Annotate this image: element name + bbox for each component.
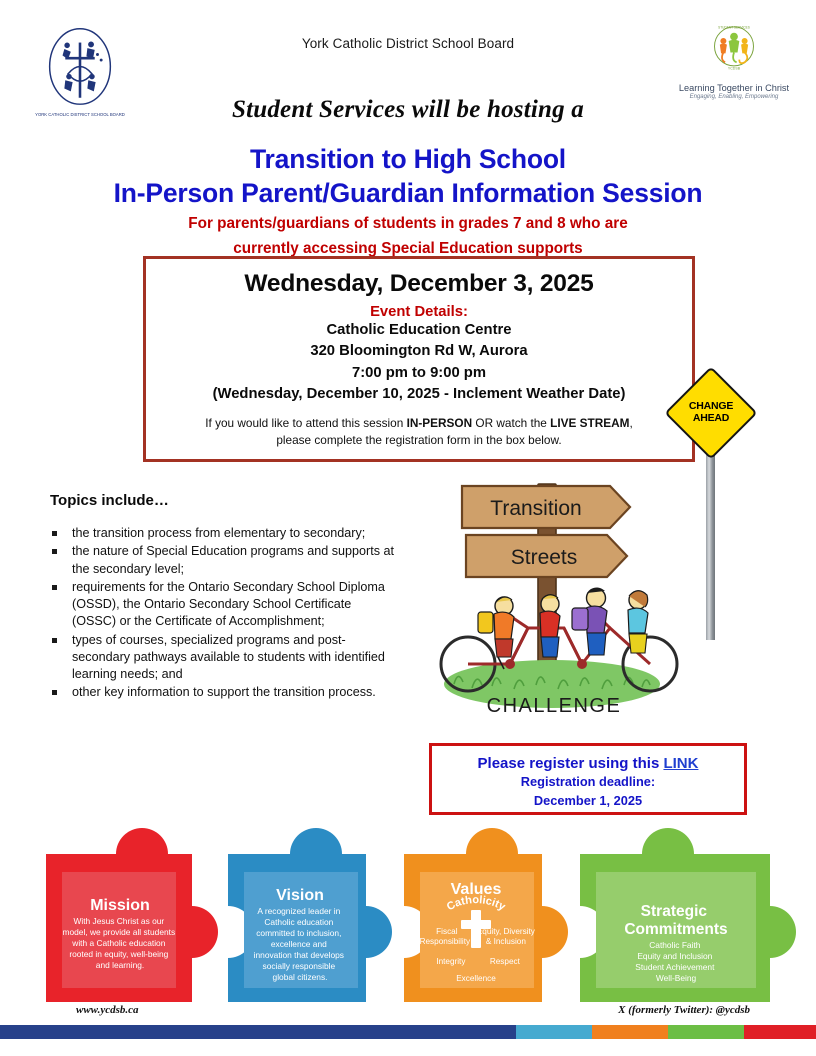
clipart-sign-top-text: Transition (490, 497, 581, 520)
list-item: requirements for the Ontario Secondary S… (50, 579, 395, 631)
student-services-logo: STUDENT SERVICES YCDSB Learning Together… (674, 22, 794, 100)
sign-post (706, 435, 715, 640)
event-date: Wednesday, December 3, 2025 (146, 270, 692, 298)
note-line-2: please complete the registration form in… (160, 432, 678, 449)
svg-text:YORK CATHOLIC DISTRICT SCHOOL: YORK CATHOLIC DISTRICT SCHOOL BOARD (35, 112, 125, 117)
title-line-2: In-Person Parent/Guardian Information Se… (0, 176, 816, 210)
list-item: the nature of Special Education programs… (50, 543, 395, 578)
footer-bar-red (744, 1025, 816, 1039)
transition-streets-clipart: Transition Streets (432, 462, 692, 728)
topics-section: Topics include… the transition process f… (50, 492, 395, 703)
puzzle-piece-strategic-commitments: Strategic Commitments Catholic Faith Equ… (580, 828, 796, 1002)
topics-list: the transition process from elementary t… (50, 525, 395, 702)
change-ahead-sign: CHANGE AHEAD (672, 380, 744, 446)
footer-website-url[interactable]: www.ycdsb.ca (76, 1004, 139, 1016)
note-mid: OR watch the (472, 416, 550, 430)
event-details-label: Event Details: (146, 304, 692, 320)
footer-color-bars (0, 1025, 816, 1039)
footer-bar-navy (0, 1025, 516, 1039)
event-venue: Catholic Education Centre (146, 320, 692, 341)
logo-tagline: Learning Together in Christ (674, 83, 794, 93)
logo-subtagline: Engaging, Enabling, Empowering (674, 94, 794, 100)
page-header: YORK CATHOLIC DISTRICT SCHOOL BOARD York… (0, 0, 816, 130)
puzzle-title-mission: Mission (90, 897, 150, 914)
puzzle-piece-values: Values Catholicity Fiscal Responsibility… (404, 828, 568, 1002)
title-block: Transition to High School In-Person Pare… (0, 142, 816, 260)
strategic-plan-puzzle: Mission With Jesus Christ as our model, … (0, 824, 816, 1002)
event-time: 7:00 pm to 9:00 pm (146, 363, 692, 384)
note-prefix: If you would like to attend this session (205, 416, 406, 430)
registration-link[interactable]: LINK (663, 755, 698, 772)
sign-streets: Streets (466, 535, 627, 577)
puzzle-title-vision: Vision (276, 887, 324, 904)
footer-social-handle[interactable]: X (formerly Twitter): @ycdsb (618, 1004, 750, 1016)
registration-deadline-date: December 1, 2025 (432, 793, 744, 810)
flyer-page: YORK CATHOLIC DISTRICT SCHOOL BOARD York… (0, 0, 816, 1056)
footer-text-row: www.ycdsb.ca X (formerly Twitter): @ycds… (0, 1004, 816, 1022)
event-address: 320 Bloomington Rd W, Aurora (146, 341, 692, 362)
list-item: the transition process from elementary t… (50, 525, 395, 542)
svg-text:YCDSB: YCDSB (728, 66, 741, 70)
note-in-person: IN-PERSON (407, 416, 473, 430)
clipart-sign-bottom-text: Streets (511, 546, 578, 569)
event-details-box: Wednesday, December 3, 2025 Event Detail… (143, 256, 695, 462)
list-item: types of courses, specialized programs a… (50, 632, 395, 684)
event-registration-note: If you would like to attend this session… (146, 415, 692, 449)
registration-box: Please register using this LINK Registra… (429, 743, 747, 815)
register-prompt-text: Please register using this (478, 755, 664, 772)
register-prompt: Please register using this LINK (432, 755, 744, 772)
note-suffix: , (629, 416, 632, 430)
note-live-stream: LIVE STREAM (550, 416, 629, 430)
footer-bar-orange (592, 1025, 668, 1039)
event-alternate-date: (Wednesday, December 10, 2025 - Inclemen… (146, 384, 692, 405)
footer-bar-cyan (516, 1025, 592, 1039)
puzzle-piece-vision: Vision A recognized leader in Catholic e… (228, 828, 392, 1002)
puzzle-piece-mission: Mission With Jesus Christ as our model, … (46, 828, 218, 1002)
change-sign-line-2: AHEAD (693, 413, 729, 425)
subtitle-line-1: For parents/guardians of students in gra… (0, 214, 816, 235)
diamond-sign-icon: CHANGE AHEAD (664, 366, 757, 459)
svg-text:STUDENT SERVICES: STUDENT SERVICES (718, 26, 750, 30)
sign-transition: Transition (462, 486, 630, 528)
list-item: other key information to support the tra… (50, 684, 395, 701)
title-line-1: Transition to High School (0, 142, 816, 176)
footer-bar-green (668, 1025, 744, 1039)
registration-deadline-label: Registration deadline: (432, 774, 744, 791)
clipart-caption-text: CHALLENGE (487, 695, 622, 717)
topics-heading: Topics include… (50, 492, 395, 509)
